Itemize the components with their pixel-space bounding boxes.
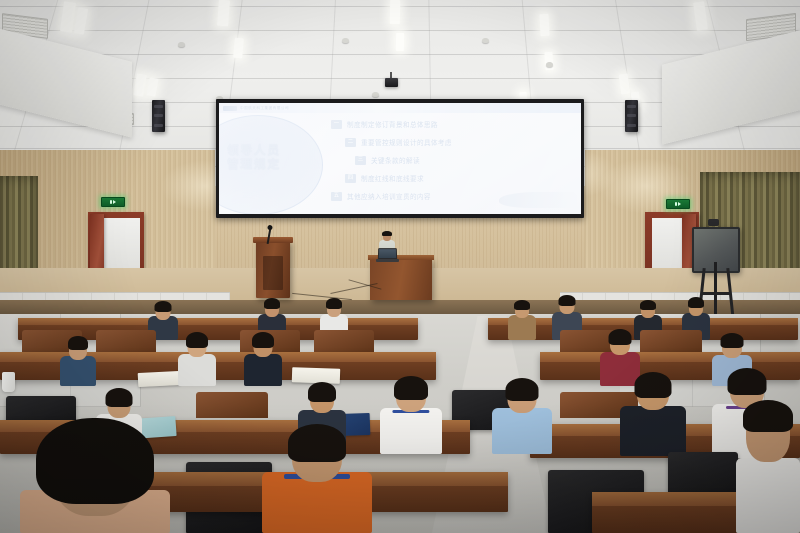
attendee-torso [244, 354, 282, 386]
attendee [178, 332, 216, 386]
exit-sign-left [101, 197, 125, 207]
ceiling-sensor [372, 92, 379, 97]
slide-title: 领导人员 管理规定 [227, 143, 323, 171]
list-item: 三 关键条款的解读 [355, 151, 577, 169]
attendee-hair [326, 298, 342, 309]
ceiling-led-panel [544, 52, 553, 71]
chair-back-wood[interactable] [96, 330, 156, 354]
ceiling-sensor [482, 38, 489, 43]
attendee-foreground [20, 418, 170, 533]
running-figure-icon [675, 202, 677, 206]
attendee-hair [36, 418, 154, 504]
projection-screen[interactable]: 中国航天科工集团有限公司 领导人员 管理规定 一 制度制定修订背景和总体思路 二… [216, 99, 584, 218]
right-wall-speaker [625, 100, 638, 132]
attendee-hair [106, 388, 133, 407]
attendee-hair [186, 332, 208, 348]
list-item-label: 其他应纳入培训宣贯的内容 [347, 191, 431, 201]
slide-title-line1: 领导人员 [227, 143, 323, 157]
attendee-hair [640, 300, 656, 310]
attendee-foreground [736, 400, 800, 533]
exit-sign-right [666, 199, 690, 209]
company-logo-icon [223, 106, 237, 111]
attendee-hair [635, 372, 672, 398]
list-item: 二 重要管控规则设计的具体考虑 [345, 133, 577, 151]
list-item-label: 重要管控规则设计的具体考虑 [361, 137, 452, 147]
chair-back-wood[interactable] [196, 392, 268, 418]
ceiling-sensor [546, 62, 553, 67]
attendee-hair [155, 301, 172, 312]
attendee-torso [178, 354, 216, 386]
list-item-number: 一 [331, 120, 342, 129]
attendee-torso [492, 408, 552, 454]
attendee-hair [308, 382, 336, 402]
attendee-hair [743, 400, 793, 432]
slide-footer-graphic [499, 192, 577, 208]
lectern-front-panel [263, 256, 283, 290]
stage-front-edge [0, 300, 800, 314]
ceiling-sensor [342, 38, 349, 43]
presentation-slide: 中国航天科工集团有限公司 领导人员 管理规定 一 制度制定修订背景和总体思路 二… [219, 103, 581, 214]
attendee-hair [559, 295, 576, 306]
list-item-number: 二 [345, 138, 356, 147]
list-item-label: 制度制定修订背景和总体思路 [347, 119, 438, 129]
attendee-hair [688, 297, 704, 308]
attendee-torso [380, 408, 442, 454]
ceiling-led-panel [539, 14, 549, 36]
cart-crossbar [702, 292, 730, 295]
attendee [60, 336, 96, 386]
arrow-icon [678, 202, 681, 206]
attendee-hair [506, 378, 539, 401]
attendee [244, 332, 282, 386]
attendee-hair [264, 298, 280, 309]
ceiling-led-panel [396, 33, 404, 51]
slide-header-text: 中国航天科工集团有限公司 [240, 106, 289, 111]
ceiling-led-panel [217, 0, 230, 26]
list-item-label: 关键条款的解读 [371, 155, 420, 165]
attendee-hair [68, 336, 88, 350]
ceiling-led-panel [390, 0, 400, 24]
left-wall-speaker [152, 100, 165, 132]
list-item-label: 制度红线和底线要求 [361, 173, 424, 183]
attendee [620, 372, 686, 456]
attendee-torso [620, 406, 686, 456]
cart-camera [708, 219, 719, 226]
chair-back-wood[interactable] [640, 330, 702, 354]
attendee-hair [609, 329, 632, 345]
laptop-screen [379, 249, 396, 258]
lectern-top [253, 237, 293, 243]
list-item-number: 四 [345, 174, 356, 183]
attendee-torso [508, 315, 536, 340]
ceiling-projector [385, 78, 398, 87]
lecture-hall-photo: 中国航天科工集团有限公司 领导人员 管理规定 一 制度制定修订背景和总体思路 二… [0, 0, 800, 533]
arrow-icon [113, 200, 116, 204]
slide-header-bar: 中国航天科工集团有限公司 [219, 103, 581, 113]
attendee-torso [736, 458, 800, 533]
attendee [262, 424, 372, 533]
attendee [508, 300, 536, 340]
ceiling-sensor [178, 42, 185, 47]
open-notebook[interactable] [138, 371, 181, 387]
list-item: 一 制度制定修订背景和总体思路 [331, 115, 577, 133]
presenter-desk [370, 258, 432, 300]
ceiling-led-panel [233, 38, 244, 59]
attendee [380, 376, 442, 454]
attendee-hair [252, 332, 274, 348]
cart-column [714, 262, 717, 320]
lectern [256, 240, 290, 298]
attendee-hair [288, 424, 346, 462]
list-item: 四 制度红线和底线要求 [345, 169, 577, 187]
attendee-hair [394, 376, 428, 400]
attendee-hair [721, 333, 744, 348]
presenter-hair [382, 231, 392, 236]
list-item-number: 三 [355, 156, 366, 165]
laptop-keyboard [376, 259, 399, 262]
attendee-hair [728, 368, 767, 395]
chair-back-wood[interactable] [314, 330, 374, 354]
list-item-number: 五 [331, 192, 342, 201]
attendee-torso [60, 356, 96, 386]
attendee-hair [514, 300, 530, 310]
attendee [492, 378, 552, 454]
paper-cup[interactable] [2, 372, 15, 392]
running-figure-icon [110, 200, 112, 204]
slide-title-line2: 管理规定 [227, 157, 323, 171]
